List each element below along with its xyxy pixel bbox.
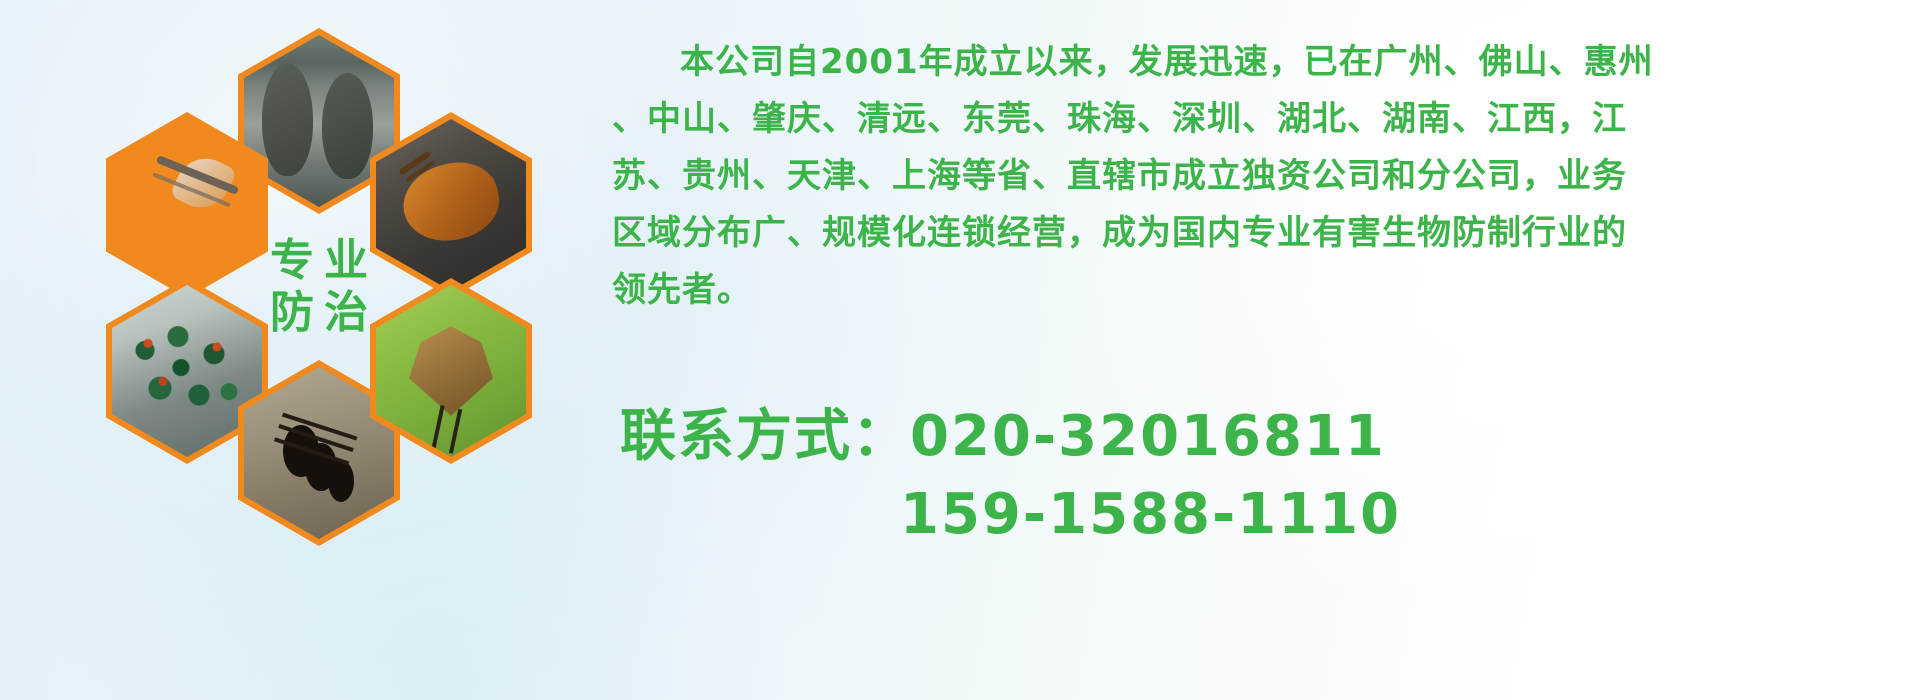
pest-control-banner: 专业 防治 本公司自2001年成立以来，发展迅速，已在广州、佛山、惠州 、中山、… bbox=[0, 0, 1920, 700]
badge-line-1: 专业 bbox=[260, 238, 378, 284]
contact-block: 联系方式：020-32016811 159-1588-1110 bbox=[620, 398, 1900, 554]
badge-line-2: 防治 bbox=[260, 290, 378, 336]
company-description: 本公司自2001年成立以来，发展迅速，已在广州、佛山、惠州 、中山、肇庆、清远、… bbox=[612, 34, 1892, 319]
contact-phone-mobile[interactable]: 159-1588-1110 bbox=[620, 476, 1900, 554]
hexagon-photo-cluster: 专业 防治 bbox=[86, 6, 586, 566]
contact-phone-landline[interactable]: 联系方式：020-32016811 bbox=[620, 398, 1900, 476]
description-line-4: 区域分布广、规模化连锁经营，成为国内专业有害生物防制行业的 bbox=[612, 205, 1892, 262]
description-line-1: 本公司自2001年成立以来，发展迅速，已在广州、佛山、惠州 bbox=[612, 34, 1892, 91]
hexagon-center-badge: 专业 防治 bbox=[238, 194, 400, 380]
description-line-5: 领先者。 bbox=[612, 262, 1892, 319]
description-line-2: 、中山、肇庆、清远、东莞、珠海、深圳、湖北、湖南、江西，江 bbox=[612, 91, 1892, 148]
description-line-3: 苏、贵州、天津、上海等省、直辖市成立独资公司和分公司，业务 bbox=[612, 148, 1892, 205]
